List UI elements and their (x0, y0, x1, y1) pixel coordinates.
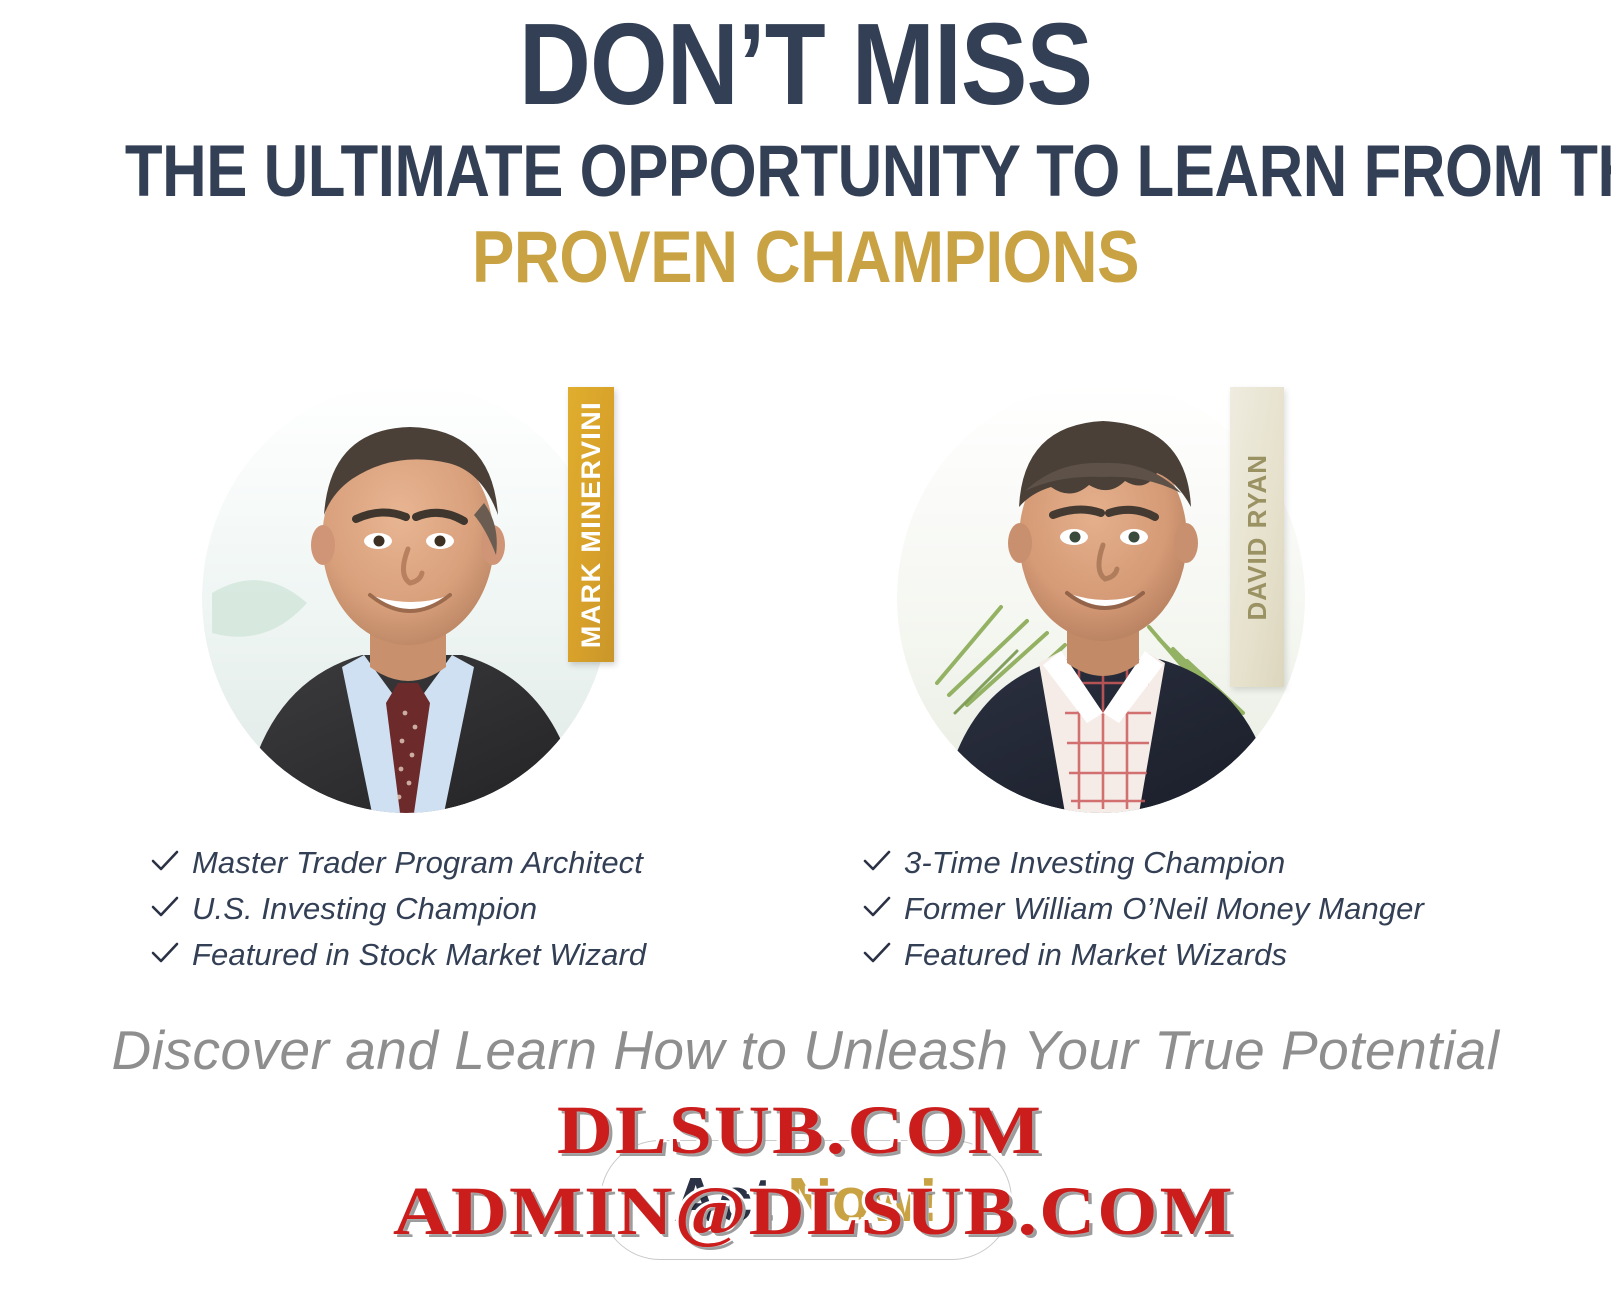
credential-label: Featured in Market Wizards (904, 937, 1287, 973)
speaker-name-label: MARK MINERVINI (576, 401, 607, 648)
speaker-card-mark-minervini: MARK MINERVINI (180, 375, 660, 825)
list-item: 3-Time Investing Champion (862, 845, 1424, 891)
credential-label: U.S. Investing Champion (192, 891, 537, 927)
check-icon (862, 895, 904, 919)
check-icon (150, 849, 192, 873)
check-icon (150, 941, 192, 965)
list-item: Former William O’Neil Money Manger (862, 891, 1424, 937)
headline-line-2: THE ULTIMATE OPPORTUNITY TO LEARN FROM T… (125, 132, 1486, 212)
check-icon (150, 895, 192, 919)
speaker-name-banner-david-ryan: DAVID RYAN (1230, 387, 1284, 687)
credential-label: Master Trader Program Architect (192, 845, 643, 881)
credential-label: 3-Time Investing Champion (904, 845, 1285, 881)
list-item: Featured in Market Wizards (862, 937, 1424, 983)
check-icon (862, 849, 904, 873)
check-icon (862, 941, 904, 965)
watermark-email: ADMIN@DLSUB.COM ADMIN@DLSUB.COM (393, 1172, 1235, 1251)
headline-line-1: DON’T MISS (113, 8, 1498, 120)
speaker-name-banner-mark-minervini: MARK MINERVINI (568, 387, 614, 662)
credentials-list-mark-minervini: Master Trader Program Architect U.S. Inv… (150, 845, 646, 983)
speaker-portrait-mark-minervini (202, 383, 610, 813)
headline-block: DON’T MISS THE ULTIMATE OPPORTUNITY TO L… (0, 0, 1611, 298)
tagline: Discover and Learn How to Unleash Your T… (0, 1018, 1611, 1082)
credential-label: Former William O’Neil Money Manger (904, 891, 1424, 927)
speaker-name-label: DAVID RYAN (1242, 454, 1273, 621)
watermark-site: DLSUB.COM DLSUB.COM (557, 1091, 1043, 1170)
list-item: Featured in Stock Market Wizard (150, 937, 646, 983)
speaker-card-david-ryan: DAVID RYAN (875, 375, 1355, 825)
watermark-site-fill: DLSUB.COM (557, 1091, 1043, 1170)
credential-label: Featured in Stock Market Wizard (192, 937, 646, 973)
watermark-email-fill: ADMIN@DLSUB.COM (393, 1172, 1235, 1251)
list-item: U.S. Investing Champion (150, 891, 646, 937)
headline-line-3-accent: PROVEN CHAMPIONS (105, 218, 1507, 298)
credentials-list-david-ryan: 3-Time Investing Champion Former William… (862, 845, 1424, 983)
list-item: Master Trader Program Architect (150, 845, 646, 891)
speakers-section: MARK MINERVINI (0, 375, 1611, 835)
